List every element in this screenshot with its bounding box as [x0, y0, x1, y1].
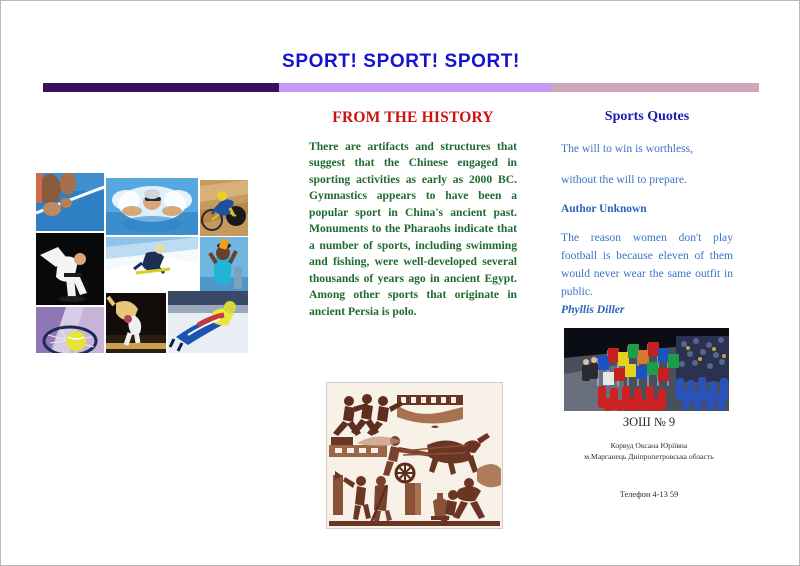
decorative-rule-bar — [43, 83, 759, 92]
rule-segment-pink — [551, 83, 759, 92]
contact-person-name: Корвуд Оксана Юріївна — [557, 441, 741, 451]
quote-one-author: Author Unknown — [561, 203, 733, 215]
article-body-text: There are artifacts and structures that … — [309, 139, 517, 320]
quotes-heading: Sports Quotes — [561, 109, 733, 125]
tennis-ball-racket-photo — [36, 307, 104, 353]
contact-phone: Телефон 4-13 59 — [557, 490, 741, 499]
speed-skaters-photo — [168, 291, 248, 353]
contact-location: м.Марганець Дніпропетровська область — [557, 452, 741, 462]
taekwondo-kick-photo — [36, 233, 104, 305]
rule-segment-dark — [43, 83, 279, 92]
brochure-page: SPORT! SPORT! SPORT! — [0, 0, 800, 566]
quote-one-line-one: The will to win is worthless, — [561, 141, 733, 156]
sports-photo-collage — [36, 173, 248, 353]
article-heading: FROM THE HISTORY — [309, 109, 517, 127]
tennis-court-photo — [36, 173, 104, 231]
rule-segment-lavender — [279, 83, 551, 92]
swimmer-butterfly-photo — [106, 178, 198, 235]
sports-quotes-panel: Sports Quotes The will to win is worthle… — [561, 109, 733, 319]
school-name: ЗОШ № 9 — [557, 415, 741, 430]
contact-block: ЗОШ № 9 Корвуд Оксана Юріївна м.Марганец… — [557, 415, 741, 499]
olympic-opening-ceremony-photo — [564, 328, 729, 411]
quote-two-text: The reason women don't play football is … — [561, 229, 733, 301]
snowboarder-photo — [106, 237, 198, 291]
ancient-greek-sports-illustration — [326, 382, 503, 529]
track-cyclist-photo — [200, 180, 248, 236]
article-from-the-history: FROM THE HISTORY There are artifacts and… — [309, 109, 517, 320]
page-title: SPORT! SPORT! SPORT! — [1, 51, 800, 73]
quote-one-line-two: without the will to prepare. — [561, 172, 733, 187]
gymnast-beam-photo — [106, 293, 166, 353]
athlete-drinking-photo — [200, 237, 248, 297]
quote-two-author: Phyllis Diller — [561, 301, 733, 319]
